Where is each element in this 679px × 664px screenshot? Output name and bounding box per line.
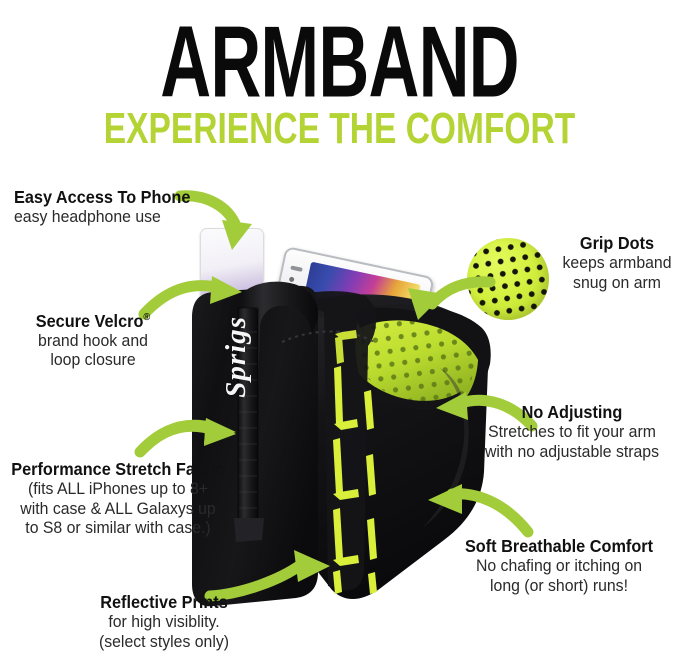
callout-line: with no adjustable straps — [473, 442, 670, 462]
callout-title: Performance Stretch Fabric — [10, 459, 226, 479]
callout-title: Grip Dots — [560, 233, 673, 253]
callout-title: Secure Velcro® — [7, 308, 180, 331]
callout-title-text: Secure Velcro — [36, 311, 144, 331]
callout-line: No chafing or itching on — [448, 556, 669, 576]
page-subtitle: EXPERIENCE THE COMFORT — [48, 106, 632, 153]
callout-line: Stretches to fit your arm — [473, 422, 670, 442]
callout-line: snug on arm — [560, 273, 673, 293]
callout-secure-velcro: Secure Velcro® brand hook and loop closu… — [0, 308, 186, 370]
callout-line: loop closure — [7, 350, 180, 370]
registered-trademark-icon: ® — [143, 312, 150, 323]
callout-line: with case & ALL Galaxys up — [10, 499, 226, 519]
callout-title: Soft Breathable Comfort — [448, 536, 669, 556]
grip-dots-swatch — [467, 238, 549, 320]
callout-soft-breathable-comfort: Soft Breathable Comfort No chafing or it… — [440, 536, 678, 595]
callout-line: to S8 or similar with case.) — [10, 518, 226, 538]
page-title: ARMBAND — [61, 8, 618, 117]
phone-speaker — [290, 265, 303, 271]
callout-title: Reflective Prints — [71, 592, 257, 612]
callout-line: long (or short) runs! — [448, 576, 669, 596]
callout-performance-stretch-fabric: Performance Stretch Fabric (fits ALL iPh… — [2, 459, 234, 538]
infographic-page: ARMBAND EXPERIENCE THE COMFORT — [0, 0, 679, 664]
header: ARMBAND EXPERIENCE THE COMFORT — [0, 0, 679, 148]
callout-line: keeps armband — [560, 253, 673, 273]
callout-grip-dots: Grip Dots keeps armband snug on arm — [556, 233, 678, 292]
brand-logo: Sprigs — [220, 316, 253, 398]
callout-no-adjusting: No Adjusting Stretches to fit your arm w… — [466, 402, 678, 461]
callout-line: brand hook and — [7, 331, 180, 351]
callout-line: (fits ALL iPhones up to 8+ — [10, 479, 226, 499]
callout-line: for high visiblity. — [71, 612, 257, 632]
callout-line: (select styles only) — [71, 632, 257, 652]
callout-title: Easy Access To Phone — [14, 187, 200, 207]
callout-title: No Adjusting — [473, 402, 670, 422]
callout-line: easy headphone use — [14, 207, 200, 227]
callout-reflective-prints: Reflective Prints for high visiblity. (s… — [64, 592, 264, 651]
callout-easy-access-to-phone: Easy Access To Phone easy headphone use — [14, 187, 214, 227]
